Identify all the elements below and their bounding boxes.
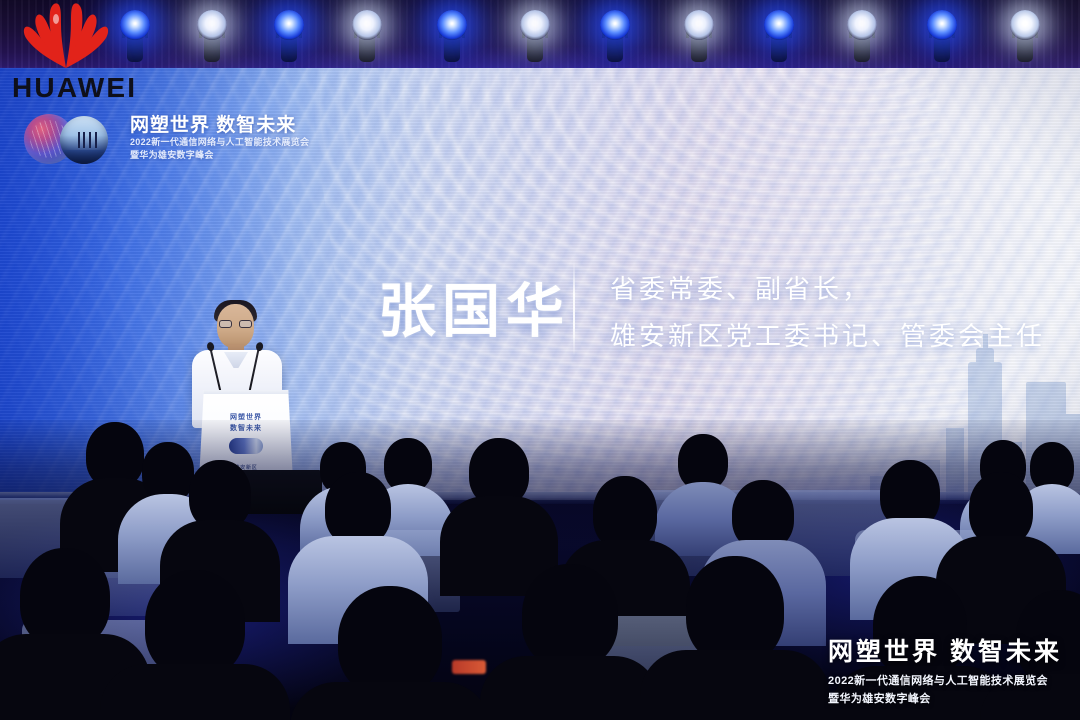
- moving-head-spotlight-icon: [120, 10, 150, 40]
- moving-head-spotlight-icon: [352, 10, 382, 40]
- event-logo: 网塑世界 数智未来 2022新一代通信网络与人工智能技术展览会 暨华为雄安数字峰…: [20, 110, 310, 168]
- event-logo-subtitle-2: 暨华为雄安数字峰会: [130, 148, 214, 161]
- event-logo-title: 网塑世界 数智未来: [130, 110, 296, 137]
- globe-and-people-circles-icon: [20, 114, 126, 164]
- stage-light-7: [598, 4, 632, 64]
- stage-light-6: [518, 4, 552, 64]
- moving-head-spotlight-icon: [927, 10, 957, 40]
- audience-member: [100, 570, 290, 720]
- moving-head-spotlight-icon: [684, 10, 714, 40]
- moving-head-spotlight-icon: [600, 10, 630, 40]
- moving-head-spotlight-icon: [274, 10, 304, 40]
- stage-light-8: [682, 4, 716, 64]
- eyeglasses-icon: [219, 320, 252, 328]
- moving-head-spotlight-icon: [764, 10, 794, 40]
- event-logo-subtitle-1: 2022新一代通信网络与人工智能技术展览会: [130, 135, 309, 148]
- stage-light-1: [118, 4, 152, 64]
- watermark-title: 网塑世界 数智未来: [828, 632, 1062, 668]
- stage-light-12: [1008, 4, 1042, 64]
- huawei-wordmark: HUAWEI: [12, 72, 137, 104]
- moving-head-spotlight-icon: [847, 10, 877, 40]
- stage-light-9: [762, 4, 796, 64]
- huawei-flower-logo-icon: [14, 2, 118, 68]
- audience-member: [480, 564, 660, 720]
- moving-head-spotlight-icon: [520, 10, 550, 40]
- stage-light-2: [195, 4, 229, 64]
- people-scene-circle: [60, 116, 108, 164]
- audience-member: [290, 586, 490, 720]
- watermark-subtitle-1: 2022新一代通信网络与人工智能技术展览会: [828, 672, 1062, 688]
- event-photo-scene: HUAWEI: [0, 0, 1080, 720]
- stage-light-11: [925, 4, 959, 64]
- stage-light-3: [272, 4, 306, 64]
- audience-member: [640, 556, 830, 720]
- stage-ceiling-truss: [0, 0, 1080, 72]
- moving-head-spotlight-icon: [197, 10, 227, 40]
- moving-head-spotlight-icon: [437, 10, 467, 40]
- stage-light-10: [845, 4, 879, 64]
- stage-light-4: [350, 4, 384, 64]
- event-watermark: 网塑世界 数智未来 2022新一代通信网络与人工智能技术展览会 暨华为雄安数字峰…: [828, 632, 1062, 706]
- watermark-subtitle-2: 暨华为雄安数字峰会: [828, 690, 1062, 706]
- stage-light-5: [435, 4, 469, 64]
- moving-head-spotlight-icon: [1010, 10, 1040, 40]
